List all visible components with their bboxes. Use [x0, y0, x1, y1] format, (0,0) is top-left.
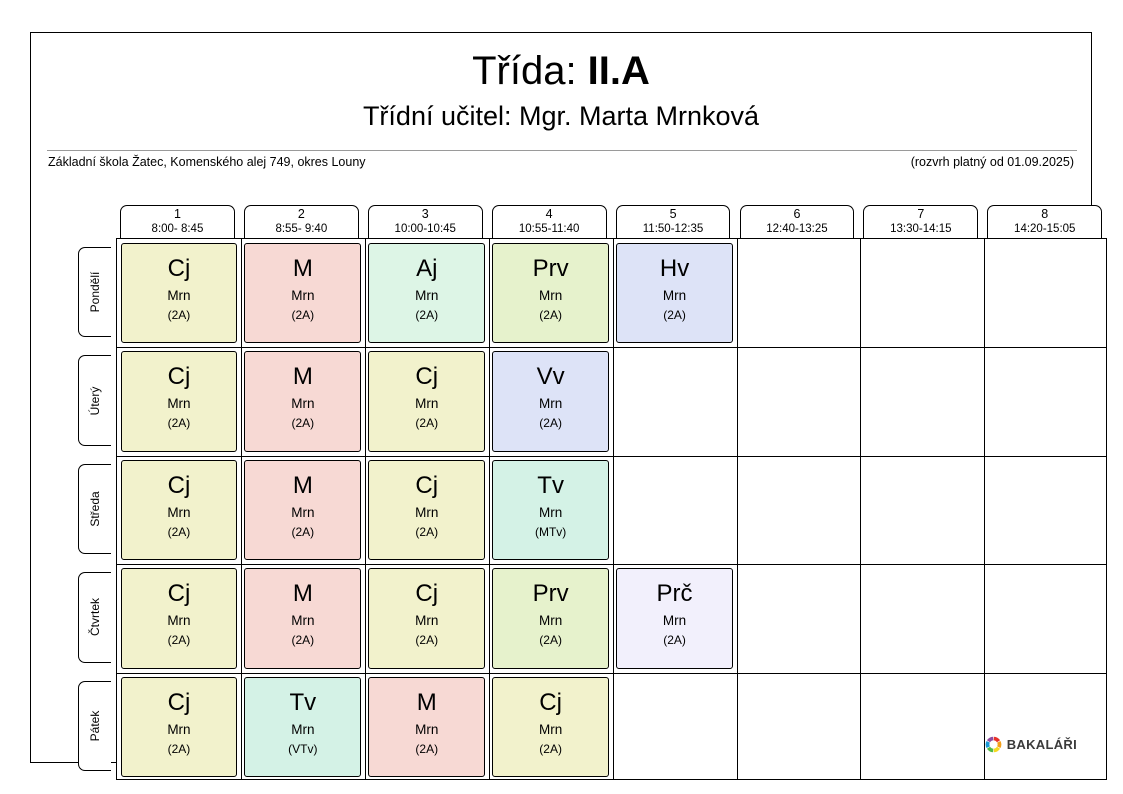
lesson-room: (2A) — [369, 415, 484, 431]
title-block: Třída: II.A Třídní učitel: Mgr. Marta Mr… — [31, 33, 1091, 133]
grid-row-line — [117, 347, 1106, 348]
lesson-cell[interactable]: MMrn(2A) — [244, 351, 361, 451]
lesson-room: (2A) — [122, 741, 237, 757]
lesson-cell[interactable]: CjMrn(2A) — [121, 460, 238, 560]
lesson-room: (2A) — [493, 632, 608, 648]
lesson-cell[interactable]: CjMrn(2A) — [121, 351, 238, 451]
lesson-cell[interactable]: MMrn(2A) — [244, 460, 361, 560]
lesson-teacher: Mrn — [493, 287, 608, 304]
lesson-room: (2A) — [369, 632, 484, 648]
teacher-title: Třídní učitel: Mgr. Marta Mrnková — [31, 99, 1091, 133]
grid-column-line — [737, 239, 738, 779]
day-label-text: Středa — [88, 491, 102, 526]
day-label-text: Pátek — [88, 710, 102, 741]
validity-note: (rozvrh platný od 01.09.2025) — [911, 154, 1074, 171]
period-number: 8 — [988, 207, 1101, 222]
period-header-1: 18:00- 8:45 — [120, 205, 235, 238]
logo-segment — [987, 747, 993, 753]
header-divider — [47, 150, 1077, 151]
timetable-cells: CjMrn(2A)MMrn(2A)AjMrn(2A)PrvMrn(2A)HvMr… — [116, 238, 1107, 780]
lesson-cell[interactable]: CjMrn(2A) — [121, 677, 238, 777]
lesson-teacher: Mrn — [493, 395, 608, 412]
lesson-teacher: Mrn — [369, 721, 484, 738]
lesson-room: (VTv) — [245, 741, 360, 757]
period-time: 10:00-10:45 — [369, 222, 482, 236]
lesson-teacher: Mrn — [369, 287, 484, 304]
period-time: 11:50-12:35 — [617, 222, 730, 236]
lesson-teacher: Mrn — [122, 721, 237, 738]
lesson-teacher: Mrn — [245, 721, 360, 738]
lesson-subject: Prč — [617, 580, 732, 608]
day-label-1: Pondělí — [78, 247, 111, 337]
lesson-teacher: Mrn — [617, 612, 732, 629]
lesson-cell[interactable]: VvMrn(2A) — [492, 351, 609, 451]
period-time: 8:00- 8:45 — [121, 222, 234, 236]
lesson-subject: Hv — [617, 255, 732, 283]
lesson-cell[interactable]: PrčMrn(2A) — [616, 568, 733, 668]
day-label-4: Čtvrtek — [78, 572, 111, 662]
grid-column-line — [860, 239, 861, 779]
day-label-5: Pátek — [78, 681, 111, 771]
period-header-row: 18:00- 8:4528:55- 9:40310:00-10:45410:55… — [116, 205, 1107, 238]
lesson-subject: Prv — [493, 255, 608, 283]
day-label-2: Úterý — [78, 355, 111, 445]
lesson-room: (2A) — [493, 741, 608, 757]
period-time: 13:30-14:15 — [864, 222, 977, 236]
lesson-room: (2A) — [122, 632, 237, 648]
lesson-cell[interactable]: CjMrn(2A) — [492, 677, 609, 777]
lesson-teacher: Mrn — [122, 504, 237, 521]
day-label-3: Středa — [78, 464, 111, 554]
class-label: Třída: — [472, 49, 588, 93]
lesson-room: (2A) — [122, 415, 237, 431]
lesson-teacher: Mrn — [369, 612, 484, 629]
lesson-room: (2A) — [617, 307, 732, 323]
lesson-cell[interactable]: CjMrn(2A) — [121, 568, 238, 668]
timetable-page: Třída: II.A Třídní učitel: Mgr. Marta Mr… — [0, 0, 1123, 794]
lesson-cell[interactable]: CjMrn(2A) — [121, 243, 238, 343]
lesson-room: (2A) — [122, 524, 237, 540]
period-number: 4 — [493, 207, 606, 222]
lesson-cell[interactable]: TvMrn(VTv) — [244, 677, 361, 777]
period-number: 7 — [864, 207, 977, 222]
lesson-teacher: Mrn — [617, 287, 732, 304]
lesson-cell[interactable]: MMrn(2A) — [244, 568, 361, 668]
period-time: 14:20-15:05 — [988, 222, 1101, 236]
lesson-room: (2A) — [245, 524, 360, 540]
period-number: 2 — [245, 207, 358, 222]
grid-column-line — [365, 239, 366, 779]
timetable-grid: 18:00- 8:4528:55- 9:40310:00-10:45410:55… — [78, 205, 1107, 780]
school-name: Základní škola Žatec, Komenského alej 74… — [48, 154, 366, 171]
lesson-teacher: Mrn — [122, 612, 237, 629]
lesson-teacher: Mrn — [245, 612, 360, 629]
logo-segment — [987, 737, 993, 743]
lesson-room: (2A) — [245, 632, 360, 648]
day-label-text: Čtvrtek — [88, 598, 102, 636]
timetable-frame: Třída: II.A Třídní učitel: Mgr. Marta Mr… — [30, 32, 1092, 763]
lesson-subject: M — [369, 689, 484, 717]
lesson-cell[interactable]: MMrn(2A) — [244, 243, 361, 343]
lesson-subject: Cj — [369, 580, 484, 608]
period-number: 3 — [369, 207, 482, 222]
lesson-cell[interactable]: CjMrn(2A) — [368, 460, 485, 560]
grid-column-line — [489, 239, 490, 779]
bakalari-logo: BAKALÁŘI — [985, 736, 1077, 753]
lesson-room: (2A) — [245, 307, 360, 323]
lesson-subject: Tv — [493, 472, 608, 500]
lesson-teacher: Mrn — [122, 395, 237, 412]
lesson-subject: M — [245, 472, 360, 500]
day-label-text: Pondělí — [88, 272, 102, 313]
logo-segment — [993, 737, 999, 743]
lesson-teacher: Mrn — [245, 395, 360, 412]
period-time: 8:55- 9:40 — [245, 222, 358, 236]
bakalari-logo-text: BAKALÁŘI — [1007, 737, 1077, 752]
grid-row-line — [117, 456, 1106, 457]
lesson-cell[interactable]: TvMrn(MTv) — [492, 460, 609, 560]
lesson-subject: M — [245, 363, 360, 391]
grid-row-line — [117, 673, 1106, 674]
period-number: 1 — [121, 207, 234, 222]
grid-column-line — [613, 239, 614, 779]
lesson-subject: M — [245, 255, 360, 283]
period-header-3: 310:00-10:45 — [368, 205, 483, 238]
period-header-8: 814:20-15:05 — [987, 205, 1102, 238]
lesson-room: (2A) — [617, 632, 732, 648]
class-value: II.A — [588, 49, 650, 93]
day-label-text: Úterý — [88, 386, 102, 415]
period-header-2: 28:55- 9:40 — [244, 205, 359, 238]
lesson-cell[interactable]: PrvMrn(2A) — [492, 243, 609, 343]
lesson-teacher: Mrn — [122, 287, 237, 304]
lesson-room: (2A) — [493, 415, 608, 431]
lesson-teacher: Mrn — [369, 504, 484, 521]
lesson-subject: Tv — [245, 689, 360, 717]
lesson-subject: Cj — [122, 580, 237, 608]
grid-column-line — [984, 239, 985, 779]
bakalari-hexagon-icon — [985, 736, 1002, 753]
lesson-room: (2A) — [369, 524, 484, 540]
lesson-subject: Cj — [122, 689, 237, 717]
period-header-5: 511:50-12:35 — [616, 205, 731, 238]
lesson-room: (2A) — [493, 307, 608, 323]
lesson-subject: Cj — [122, 255, 237, 283]
period-number: 6 — [741, 207, 854, 222]
lesson-cell[interactable]: HvMrn(2A) — [616, 243, 733, 343]
lesson-cell[interactable]: CjMrn(2A) — [368, 568, 485, 668]
lesson-subject: Vv — [493, 363, 608, 391]
lesson-teacher: Mrn — [245, 504, 360, 521]
logo-segment — [997, 741, 1001, 748]
timetable-body: CjMrn(2A)MMrn(2A)AjMrn(2A)PrvMrn(2A)HvMr… — [78, 238, 1107, 780]
lesson-subject: Cj — [369, 472, 484, 500]
lesson-cell[interactable]: PrvMrn(2A) — [492, 568, 609, 668]
logo-segment — [993, 747, 999, 753]
lesson-teacher: Mrn — [493, 612, 608, 629]
lesson-room: (2A) — [369, 307, 484, 323]
period-header-7: 713:30-14:15 — [863, 205, 978, 238]
lesson-cell[interactable]: AjMrn(2A) — [368, 243, 485, 343]
period-time: 12:40-13:25 — [741, 222, 854, 236]
grid-column-line — [241, 239, 242, 779]
lesson-room: (2A) — [245, 415, 360, 431]
lesson-subject: M — [245, 580, 360, 608]
lesson-subject: Cj — [122, 472, 237, 500]
lesson-cell[interactable]: MMrn(2A) — [368, 677, 485, 777]
lesson-teacher: Mrn — [369, 395, 484, 412]
logo-segment — [985, 741, 989, 748]
lesson-room: (2A) — [369, 741, 484, 757]
lesson-teacher: Mrn — [493, 721, 608, 738]
lesson-subject: Cj — [369, 363, 484, 391]
lesson-subject: Prv — [493, 580, 608, 608]
period-number: 5 — [617, 207, 730, 222]
lesson-room: (2A) — [122, 307, 237, 323]
lesson-subject: Cj — [493, 689, 608, 717]
lesson-subject: Cj — [122, 363, 237, 391]
lesson-teacher: Mrn — [493, 504, 608, 521]
grid-row-line — [117, 564, 1106, 565]
period-header-4: 410:55-11:40 — [492, 205, 607, 238]
lesson-subject: Aj — [369, 255, 484, 283]
period-time: 10:55-11:40 — [493, 222, 606, 236]
lesson-cell[interactable]: CjMrn(2A) — [368, 351, 485, 451]
page-title: Třída: II.A — [31, 47, 1091, 95]
lesson-teacher: Mrn — [245, 287, 360, 304]
period-header-6: 612:40-13:25 — [740, 205, 855, 238]
lesson-room: (MTv) — [493, 524, 608, 540]
